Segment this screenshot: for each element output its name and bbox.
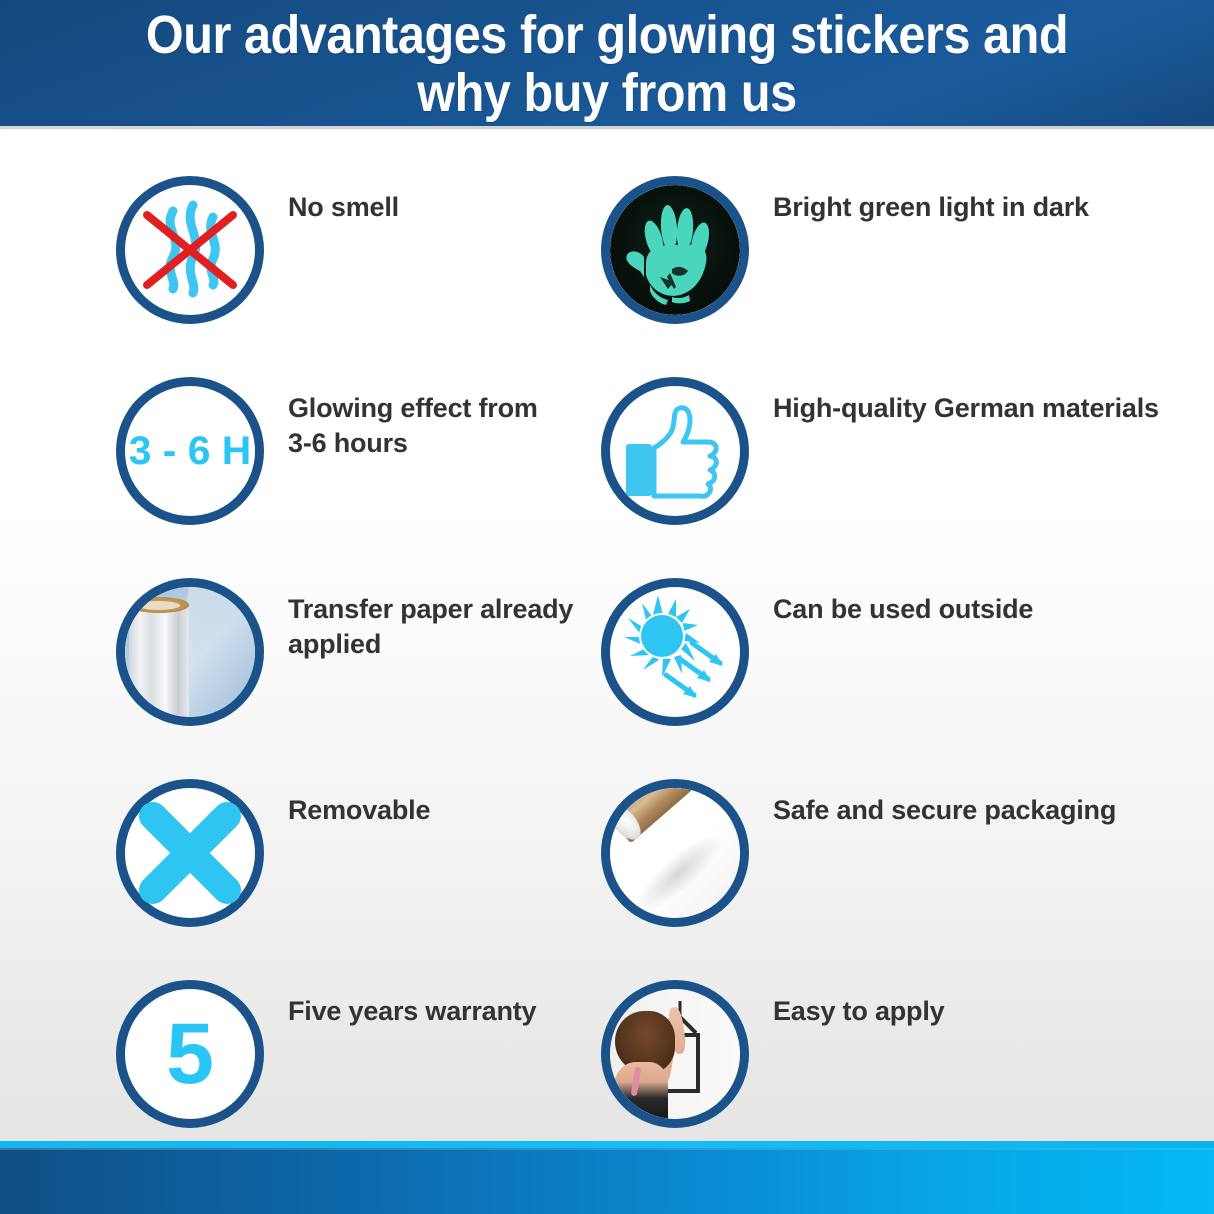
- feature-label: No smell: [288, 176, 399, 225]
- no-smell-icon: [116, 176, 264, 324]
- transfer-paper-roll-photo: [116, 578, 264, 726]
- feature-warranty: 5 Five years warranty: [116, 980, 536, 1128]
- roll-core-hole: [137, 601, 180, 610]
- feature-no-smell: No smell: [116, 176, 399, 324]
- feature-bright-green-light: Bright green light in dark: [601, 176, 1089, 324]
- header-banner: Our advantages for glowing stickers and …: [0, 0, 1214, 126]
- woman-applying-sticker-photo: [601, 980, 749, 1128]
- infographic-page: Our advantages for glowing stickers and …: [0, 0, 1214, 1214]
- cross-x-icon: [116, 779, 264, 927]
- five-number-text: 5: [116, 980, 264, 1128]
- glowing-handprint-icon: [601, 176, 749, 324]
- roll-core-top: [129, 597, 189, 613]
- apply-photo-image: [610, 989, 740, 1119]
- feature-label: Five years warranty: [288, 980, 536, 1029]
- no-smell-icon-svg: [125, 185, 255, 315]
- roll-body: [129, 603, 189, 717]
- five-years-icon: 5: [116, 980, 264, 1128]
- mailing-tube-photo: [601, 779, 749, 927]
- feature-glowing-duration: 3 - 6 H Glowing effect from 3-6 hours: [116, 377, 538, 525]
- feature-label: High-quality German materials: [773, 377, 1159, 426]
- sun-rays-svg: [610, 587, 740, 717]
- hours-3-6-text: 3 - 6 H: [115, 377, 266, 525]
- feature-label: Glowing effect from 3-6 hours: [288, 377, 538, 461]
- feature-label: Can be used outside: [773, 578, 1033, 627]
- hours-3-6-icon: 3 - 6 H: [116, 377, 264, 525]
- torso: [614, 1062, 669, 1119]
- feature-transfer-paper: Transfer paper already applied: [116, 578, 573, 726]
- glowing-handprint-image: [610, 185, 740, 315]
- feature-secure-packaging: Safe and secure packaging: [601, 779, 1116, 927]
- thumbs-up-icon: [601, 377, 749, 525]
- header-title-line-1: Our advantages for glowing stickers and: [72, 6, 1143, 64]
- footer-accent-strip: [0, 1141, 1214, 1148]
- features-grid: No smell: [0, 129, 1214, 1139]
- header-title: Our advantages for glowing stickers and …: [12, 4, 1202, 122]
- feature-label: Transfer paper already applied: [288, 578, 573, 662]
- feature-removable: Removable: [116, 779, 430, 927]
- feature-easy-to-apply: Easy to apply: [601, 980, 944, 1128]
- feature-german-materials: High-quality German materials: [601, 377, 1159, 525]
- feature-label: Easy to apply: [773, 980, 944, 1029]
- footer-highlight-line: [0, 1148, 1214, 1150]
- cross-x-svg: [125, 788, 255, 918]
- sun-with-rays-icon: [601, 578, 749, 726]
- feature-used-outside: Can be used outside: [601, 578, 1033, 726]
- feature-label: Safe and secure packaging: [773, 779, 1116, 828]
- footer-banner: [0, 1148, 1214, 1214]
- handprint-shape: [610, 185, 740, 315]
- mailing-tube-image: [610, 788, 740, 918]
- header-title-line-2: why buy from us: [72, 64, 1143, 122]
- feature-label: Bright green light in dark: [773, 176, 1089, 225]
- feature-label: Removable: [288, 779, 430, 828]
- arrow-heads: [683, 654, 723, 698]
- thumbs-up-svg: [610, 386, 740, 516]
- transfer-roll-image: [125, 587, 255, 717]
